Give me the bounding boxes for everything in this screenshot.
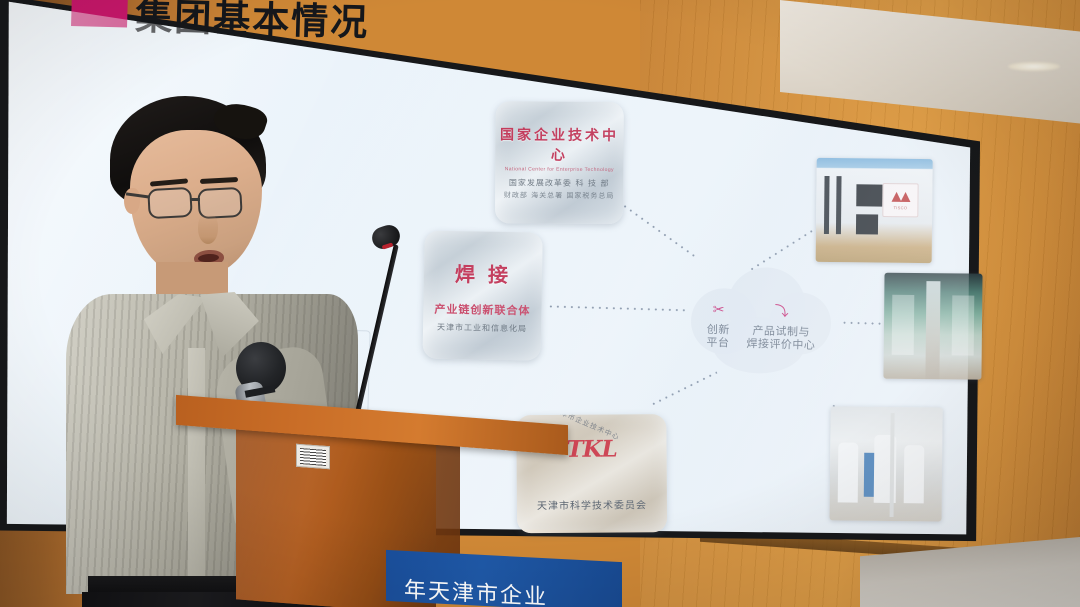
- arrow-down-icon: ⤵: [774, 304, 789, 322]
- connector-national: [622, 204, 698, 259]
- hub-item-innovation-line1: 创新: [707, 322, 730, 336]
- hub-item-welding-line2: 焊接评价中心: [746, 337, 815, 353]
- plaque-welding-title: 焊 接: [455, 258, 511, 288]
- glasses-lens-left: [147, 187, 193, 219]
- plaque-tkl-issuer: 天津市科学技术委员会: [537, 496, 647, 512]
- hub-item-innovation-platform: ✂ 创新 平台: [706, 302, 730, 351]
- shirt-placket: [188, 348, 205, 594]
- plaque-national-line1: 国家发展改革委 科 技 部: [509, 177, 610, 189]
- ceiling-light: [1008, 62, 1060, 71]
- podium-asset-tag: [296, 444, 330, 470]
- plaque-welding-subtitle: 产业链创新联合体: [434, 300, 530, 318]
- plaque-welding-issuer: 天津市工业和信息化局: [437, 321, 527, 334]
- qr-code-icon: [300, 447, 326, 465]
- lab-person: [838, 442, 859, 502]
- slide-accent-block: [71, 0, 128, 28]
- lab-person: [904, 445, 925, 503]
- connector-welding: [547, 305, 687, 311]
- thumbnail-laboratory-staff: [830, 406, 943, 521]
- equipment-detail: [824, 176, 830, 234]
- scissors-icon: ✂: [712, 302, 725, 320]
- slide-corner-logo: ▲▲ TISCO: [882, 183, 918, 217]
- plaque-national-line2: 财政部 海关总署 国家税务总局: [504, 190, 615, 201]
- glasses-bridge: [191, 198, 200, 201]
- innovation-hub-cloud: ✂ 创新 平台 ⤵ 产品试制与 焊接评价中心: [681, 261, 842, 383]
- equipment-detail: [836, 176, 842, 234]
- workshop-detail: [952, 295, 975, 355]
- company-logo-caption: TISCO: [894, 205, 908, 210]
- company-logo-mark: ▲▲: [891, 190, 909, 203]
- workshop-aisle: [925, 281, 940, 379]
- hub-item-welding-center: ⤵ 产品试制与 焊接评价中心: [746, 303, 816, 353]
- connector-workshop: [841, 322, 887, 325]
- hub-item-innovation-line2: 平台: [706, 336, 729, 350]
- speaker-nose: [198, 214, 218, 244]
- slide-title: 集团基本情况: [135, 0, 370, 46]
- tkl-logo: TKL: [566, 436, 616, 463]
- equipment-detail: [856, 184, 882, 206]
- plaque-national-subtitle: National Center for Enterprise Technolog…: [505, 166, 614, 173]
- workshop-detail: [892, 295, 915, 355]
- presentation-scene: 集团基本情况 基础 国家企业技术中心 National Center for E…: [0, 0, 1080, 607]
- plaque-national-title: 国家企业技术中心: [495, 124, 623, 165]
- plaque-national-tech-center: 国家企业技术中心 National Center for Enterprise …: [495, 101, 624, 224]
- thumbnail-production-workshop: [883, 273, 982, 380]
- plaque-welding-consortium: 焊 接 产业链创新联合体 天津市工业和信息化局: [423, 231, 543, 361]
- equipment-detail: [856, 214, 878, 234]
